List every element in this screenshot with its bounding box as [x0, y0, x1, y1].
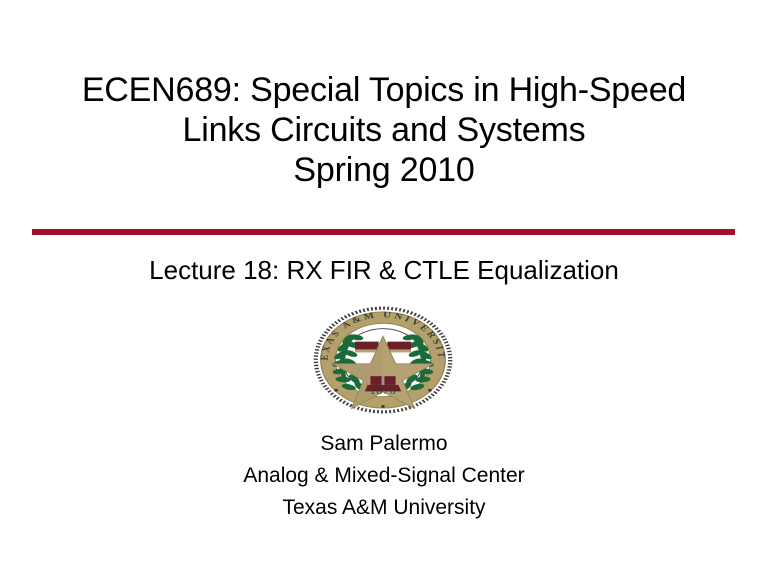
- seal-year-text: 1876: [370, 387, 397, 397]
- texas-am-university-seal-icon: TEXAS A&M UNIVERSITY: [313, 306, 453, 414]
- slide-title: ECEN689: Special Topics in High-Speed Li…: [0, 70, 768, 190]
- title-line-1: ECEN689: Special Topics in High-Speed: [0, 70, 768, 110]
- title-line-2: Links Circuits and Systems: [0, 110, 768, 150]
- author-affiliation: Analog & Mixed-Signal Center: [0, 460, 768, 492]
- author-block: Sam Palermo Analog & Mixed-Signal Center…: [0, 428, 768, 524]
- lecture-subtitle: Lecture 18: RX FIR & CTLE Equalization: [0, 254, 768, 286]
- author-institution: Texas A&M University: [0, 492, 768, 524]
- texas-am-seal: TEXAS A&M UNIVERSITY: [313, 306, 453, 414]
- title-slide: ECEN689: Special Topics in High-Speed Li…: [0, 0, 768, 576]
- author-name: Sam Palermo: [0, 428, 768, 460]
- divider-rule: [32, 229, 735, 235]
- title-line-3: Spring 2010: [0, 150, 768, 190]
